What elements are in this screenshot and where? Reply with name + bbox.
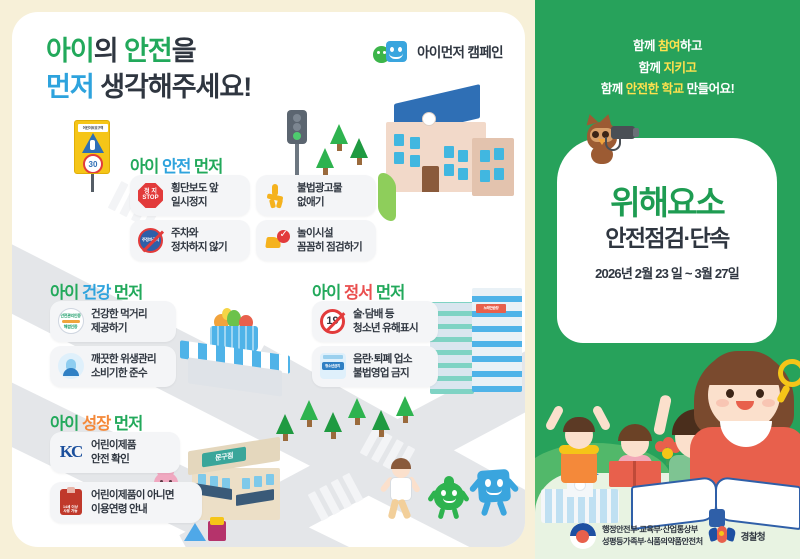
tree-icon <box>350 138 368 158</box>
card-label: 음란·퇴폐 업소 불법영업 금지 <box>353 352 412 381</box>
slogan-line-1: 함께 참여하고 <box>535 36 800 58</box>
campaign-logo-text: 아이먼저 캠페인 <box>417 41 503 61</box>
card-hygiene[interactable]: 깨끗한 위생관리 소비기한 준수 <box>50 346 176 387</box>
card-label: 놀이시설 꼼꼼히 점검하기 <box>297 226 362 255</box>
tree-icon <box>324 412 342 432</box>
police-agency-label: 경찰청 <box>741 529 765 543</box>
card-crosswalk-stop[interactable]: 정 지 STOP 횡단보도 앞 일시정지 <box>130 175 250 216</box>
ministries-label: 행정안전부·교육부·산업통상부 성평등가족부·식품의약품안전처 <box>602 524 703 549</box>
age-19-restriction-icon: 19 <box>319 308 346 335</box>
title-particle: 의 <box>94 36 124 66</box>
title-word-child: 아이 <box>46 36 94 66</box>
green-mascot-icon <box>432 478 466 520</box>
card-kc-safety-check[interactable]: KC 어린이제품 안전 확인 <box>50 432 180 473</box>
tree-icon <box>396 396 414 416</box>
open-book-icon <box>631 475 800 529</box>
school-zone-label: 어린이보호구역 <box>78 124 108 132</box>
campaign-mascot-icon <box>373 39 411 63</box>
poster-root: 어린이보호구역 30 노래연습장 <box>0 0 800 559</box>
announcement-date: 2026년 2월 23 일 ~ 3월 27일 <box>557 263 777 282</box>
tree-icon <box>330 124 348 144</box>
card-healthy-food[interactable]: 안전관리인증 해썹인증 건강한 먹거리 제공하기 <box>50 301 176 342</box>
karaoke-sign-label: 노래연습장 <box>476 304 506 313</box>
stop-sign-icon: 정 지 STOP <box>137 182 164 209</box>
slogan-line-3: 함께 안전한 학교 만들어요! <box>535 79 800 101</box>
blue-mascot-icon <box>474 468 516 522</box>
tree-icon <box>316 148 334 168</box>
korea-government-emblem-icon <box>570 523 596 549</box>
age-limit-label-bottom: 사용 가능 <box>63 509 77 513</box>
market-illustration <box>180 314 290 392</box>
section-heading-growth: 아이 성장 먼저 <box>50 410 142 434</box>
card-label: 건강한 먹거리 제공하기 <box>91 307 147 336</box>
title-particle: 을 <box>172 36 196 66</box>
card-age-guidance[interactable]: 14세 이상 사용 가능 어린이제품이 아니면 이용연령 안내 <box>50 482 202 523</box>
card-label: 주차와 정차하지 않기 <box>171 226 227 255</box>
right-panel: 함께 참여하고 함께 지키고 함께 안전한 학교 만들어요! 위해요소 안전점검… <box>535 0 800 559</box>
card-label: 횡단보도 앞 일시정지 <box>171 181 218 210</box>
tree-icon <box>300 400 318 420</box>
building-sign-label: 청소년금지 <box>322 362 344 370</box>
clock-icon <box>422 112 436 126</box>
speed-limit-label: 30 <box>83 154 103 174</box>
building-illustration: 노래연습장 <box>430 288 525 400</box>
haccp-label-top: 안전관리인증 <box>60 313 80 319</box>
pedestrian-crossing-icon <box>82 133 104 153</box>
age-limit-bottle-icon: 14세 이상 사용 가능 <box>57 489 84 516</box>
slogan-block: 함께 참여하고 함께 지키고 함께 안전한 학교 만들어요! <box>535 36 800 101</box>
page-title: 아이의 안전을 먼저 생각해주세요! <box>46 34 251 105</box>
no-parking-icon: 주정차금지 <box>137 227 164 254</box>
announcement-title: 위해요소 <box>557 186 777 221</box>
no-parking-label: 주정차금지 <box>142 237 159 243</box>
tree-icon <box>372 410 390 430</box>
school-building-illustration <box>364 94 514 206</box>
section-heading-safety: 아이 안전 먼저 <box>130 153 222 177</box>
card-playground-inspection[interactable]: 놀이시설 꼼꼼히 점검하기 <box>256 220 376 261</box>
binoculars-icon <box>611 126 635 139</box>
school-zone-sign: 어린이보호구역 30 <box>74 120 112 192</box>
haccp-label-bottom: 해썹인증 <box>64 324 78 330</box>
government-footer: 행정안전부·교육부·산업통상부 성평등가족부·식품의약품안전처 경찰청 <box>535 523 800 549</box>
entertainment-building-icon: 청소년금지 <box>319 353 346 380</box>
card-label: 어린이제품이 아니면 이용연령 안내 <box>91 488 174 517</box>
card-no-parking[interactable]: 주정차금지 주차와 정차하지 않기 <box>130 220 250 261</box>
kc-mark-label: KC <box>57 440 84 465</box>
card-illegal-business[interactable]: 청소년금지 음란·퇴폐 업소 불법영업 금지 <box>312 346 438 387</box>
announcement-card: 위해요소 안전점검·단속 2026년 2월 23 일 ~ 3월 27일 <box>557 138 777 343</box>
playground-check-icon <box>263 227 290 254</box>
card-youth-harmful-labeling[interactable]: 19 술·담배 등 청소년 유해표시 <box>312 301 438 342</box>
traffic-light-icon <box>287 110 309 174</box>
card-label: 불법광고물 없애기 <box>297 181 342 210</box>
title-word-first: 먼저 <box>46 72 94 102</box>
running-child-illustration <box>382 460 422 522</box>
age-19-label: 19 <box>326 315 338 327</box>
card-label: 술·담배 등 청소년 유해표시 <box>353 307 418 336</box>
illegal-ad-icon <box>263 182 290 209</box>
magnifying-glass-icon <box>774 359 800 405</box>
child-illustration <box>549 405 607 483</box>
haccp-certification-icon: 안전관리인증 해썹인증 <box>57 308 84 335</box>
title-word-safety: 안전 <box>124 36 172 66</box>
announcement-subtitle: 안전점검·단속 <box>557 225 777 251</box>
card-label: 어린이제품 안전 확인 <box>91 438 136 467</box>
left-content-card: 어린이보호구역 30 노래연습장 <box>12 12 525 547</box>
owl-mascot-icon <box>583 118 641 166</box>
kc-mark-icon: KC <box>57 439 84 466</box>
tree-icon <box>348 398 366 418</box>
card-label: 깨끗한 위생관리 소비기한 준수 <box>91 352 156 381</box>
hygiene-icon <box>57 353 84 380</box>
tree-icon <box>276 414 294 434</box>
slogan-line-2: 함께 지키고 <box>535 58 800 80</box>
left-panel: 어린이보호구역 30 노래연습장 <box>0 0 535 559</box>
title-rest: 생각해주세요! <box>94 72 252 102</box>
section-heading-emotion: 아이 정서 먼저 <box>312 279 404 303</box>
stop-sign-label-en: STOP <box>142 195 158 201</box>
police-badge-icon <box>709 524 735 548</box>
section-heading-health: 아이 건강 먼저 <box>50 279 142 303</box>
campaign-logo: 아이먼저 캠페인 <box>373 39 503 63</box>
card-illegal-ads[interactable]: 불법광고물 없애기 <box>256 175 376 216</box>
